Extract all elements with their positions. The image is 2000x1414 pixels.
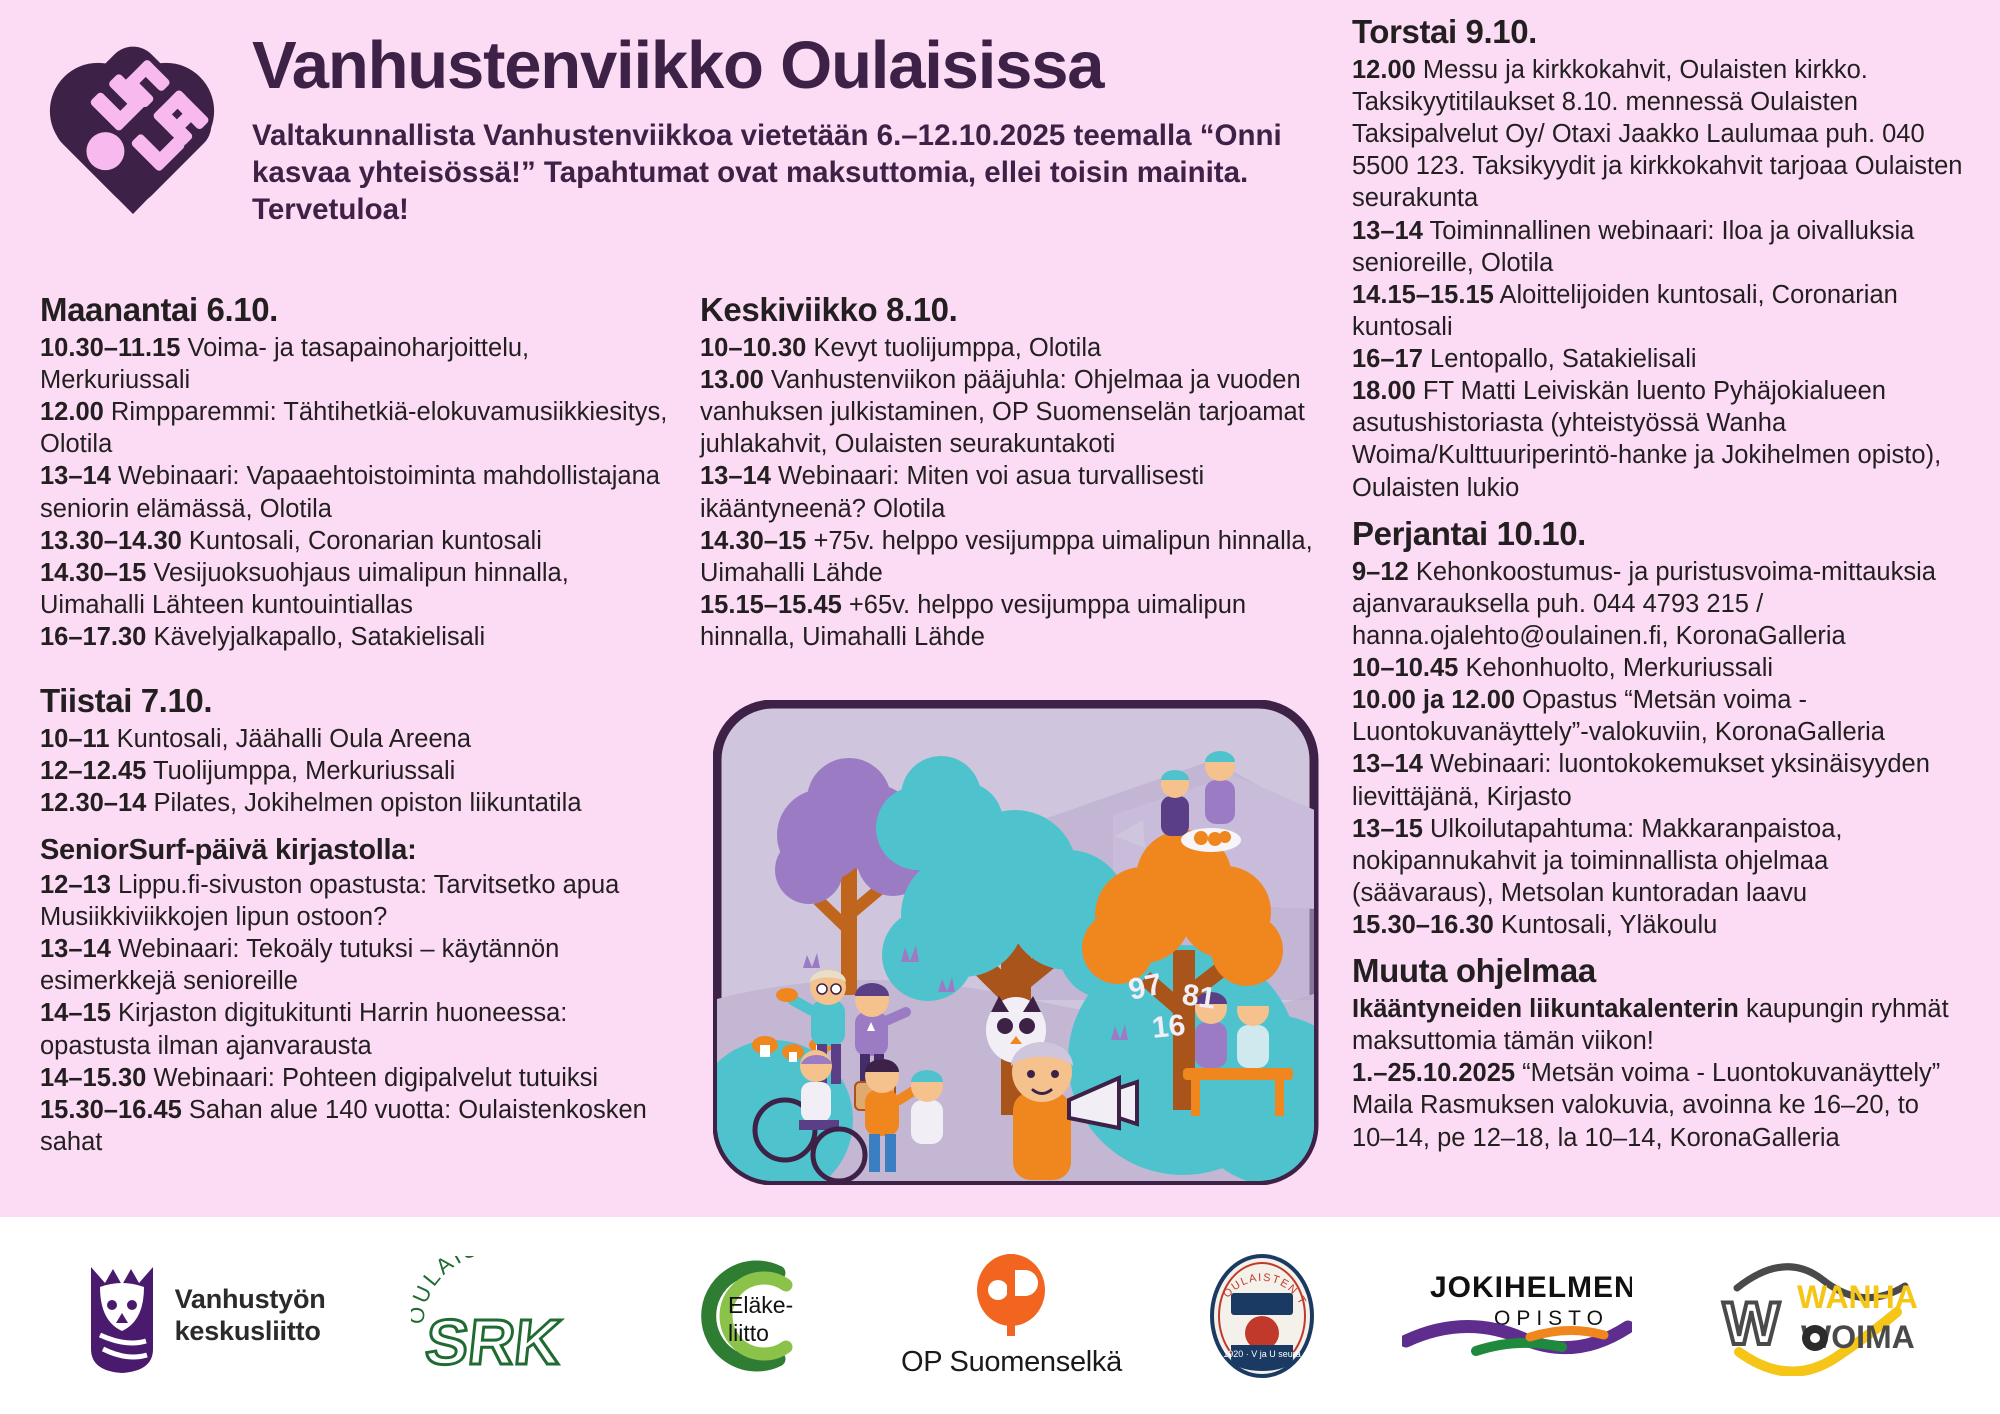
event-time: 18.00 — [1352, 377, 1416, 405]
event-item: 15.30–16.30 Kuntosali, Yläkoulu — [1352, 909, 1967, 941]
event-time: 14.30–15 — [40, 559, 146, 587]
event-text: Toiminnallinen webinaari: Iloa ja oivall… — [1352, 217, 1914, 277]
event-text: Kirjaston digitukitunti Harrin huoneessa… — [40, 999, 567, 1059]
event-time: 10–10.30 — [700, 334, 806, 362]
page-title: Vanhustenviikko Oulaisissa — [252, 32, 1302, 99]
jokihelmen-label: JOKIHELMEN — [1430, 1271, 1632, 1304]
outdoor-seniors-nature-illustration: 97 81 16 — [713, 700, 1338, 1185]
logo-wanha-woima: W WANHA WOIMA — [1717, 1241, 1917, 1391]
page-subtitle: Valtakunnallista Vanhustenviikkoa vietet… — [252, 117, 1302, 228]
event-item: 15.15–15.45 +65v. helppo vesijumppa uima… — [700, 589, 1320, 653]
event-time: 15.30–16.45 — [40, 1096, 182, 1124]
wanha-woima-logo-icon: W WANHA WOIMA — [1717, 1256, 1917, 1376]
event-time: 16–17.30 — [40, 623, 146, 651]
event-text: Pilates, Jokihelmen opiston liikuntatila — [153, 789, 581, 817]
event-text: Kuntosali, Coronarian kuntosali — [189, 527, 542, 555]
event-item: 12.00 Messu ja kirkkokahvit, Oulaisten k… — [1352, 54, 1967, 215]
event-time: 10–10.45 — [1352, 654, 1458, 682]
event-text: Webinaari: Tekoäly tutuksi – käytännön e… — [40, 935, 559, 995]
sponsor-logo-strip: Vanhustyön keskusliitto OULAISTEN SRK El… — [0, 1217, 2000, 1414]
spacer — [1352, 504, 1967, 516]
event-item: 12.30–14 Pilates, Jokihelmen opiston lii… — [40, 787, 670, 819]
day-heading-monday: Maanantai 6.10. — [40, 292, 670, 329]
event-time: 14–15.30 — [40, 1064, 146, 1092]
event-time: 13.30–14.30 — [40, 527, 182, 555]
event-text: Vanhustenviikon pääjuhla: Ohjelmaa ja vu… — [700, 366, 1305, 458]
event-item: 15.30–16.45 Sahan alue 140 vuotta: Oulai… — [40, 1094, 670, 1158]
event-time: 15.30–16.30 — [1352, 911, 1494, 939]
day-heading-friday: Perjantai 10.10. — [1352, 516, 1967, 553]
event-time: 13–14 — [1352, 217, 1423, 245]
event-item: 16–17.30 Kävelyjalkapallo, Satakielisali — [40, 621, 670, 653]
elakeliitto-logo-icon: Eläke- liitto — [686, 1251, 816, 1381]
event-time: 10.30–11.15 — [40, 334, 180, 362]
column-right: Torstai 9.10. 12.00 Messu ja kirkkokahvi… — [1352, 14, 1967, 1154]
event-text: Webinaari: Miten voi asua turvallisesti … — [700, 462, 1204, 522]
event-item: 10.00 ja 12.00 Opastus “Metsän voima - L… — [1352, 684, 1967, 748]
event-time: 12–13 — [40, 871, 111, 899]
opisto-label: OPISTO — [1494, 1307, 1609, 1330]
event-item: 12–12.45 Tuolijumppa, Merkuriussali — [40, 755, 670, 787]
elakeliitto-label-line1: Eläke- — [728, 1292, 793, 1318]
event-item: 12.00 Rimpparemmi: Tähtihetkiä-elokuvamu… — [40, 396, 670, 460]
event-item: 14–15.30 Webinaari: Pohteen digipalvelut… — [40, 1062, 670, 1094]
event-time: 13.00 — [700, 366, 764, 394]
event-time: 13–14 — [1352, 750, 1423, 778]
event-time: 12.00 — [40, 398, 104, 426]
event-item: 10.30–11.15 Voima- ja tasapainoharjoitte… — [40, 332, 670, 396]
illustration-content: 97 81 16 — [713, 751, 1338, 1185]
event-text: Kävelyjalkapallo, Satakielisali — [153, 623, 485, 651]
wanha-label: WANHA — [1797, 1279, 1917, 1315]
event-item: 13–14 Webinaari: Vapaaehtoistoiminta mah… — [40, 460, 670, 524]
event-time: 15.15–15.45 — [700, 591, 842, 619]
event-list-other: Ikääntyneiden liikuntakalenterin kaupung… — [1352, 993, 1967, 1154]
event-time: 14.15–15.15 — [1352, 281, 1494, 309]
event-list-thursday: 12.00 Messu ja kirkkokahvit, Oulaisten k… — [1352, 54, 1967, 504]
event-item: 13.30–14.30 Kuntosali, Coronarian kuntos… — [40, 525, 670, 557]
logo-jokihelmen-opisto: JOKIHELMEN OPISTO — [1402, 1241, 1632, 1391]
logo-elakeliitto: Eläke- liitto — [686, 1241, 816, 1391]
woima-w-mark: W — [1723, 1290, 1780, 1357]
owl-logo-icon — [83, 1257, 161, 1375]
event-text: Tuolijumppa, Merkuriussali — [153, 757, 455, 785]
poster-header: Vanhustenviikko Oulaisissa Valtakunnalli… — [40, 18, 1330, 248]
event-text: Messu ja kirkkokahvit, Oulaisten kirkko.… — [1352, 56, 1962, 213]
day-heading-tuesday: Tiistai 7.10. — [40, 683, 670, 720]
event-text: Webinaari: Vapaaehtoistoiminta mahdollis… — [40, 462, 660, 522]
logo-vanhustyon-keskusliitto: Vanhustyön keskusliitto — [83, 1241, 326, 1391]
event-text: Ulkoilutapahtuma: Makkaranpaistoa, nokip… — [1352, 815, 1843, 907]
event-item: 13.00 Vanhustenviikon pääjuhla: Ohjelmaa… — [700, 364, 1320, 460]
event-time: 10.00 ja 12.00 — [1352, 686, 1515, 714]
logo-label-line2: keskusliitto — [175, 1316, 326, 1348]
event-time: 12–12.45 — [40, 757, 146, 785]
op-label: OP Suomenselkä — [901, 1346, 1122, 1379]
svg-text:97: 97 — [1126, 968, 1166, 1007]
srk-logo-icon: OULAISTEN SRK — [411, 1256, 601, 1376]
event-item: 13–14 Webinaari: luontokokemukset yksinä… — [1352, 748, 1967, 812]
event-time: 10–11 — [40, 725, 110, 753]
taru-logo-icon: OULAISTEN TARU 1920 · V ja U seura — [1207, 1253, 1317, 1379]
event-time: 13–14 — [40, 462, 111, 490]
event-list-friday: 9–12 Kehonkoostumus- ja puristusvoima-mi… — [1352, 556, 1967, 942]
event-item: 10–11 Kuntosali, Jäähalli Oula Areena — [40, 723, 670, 755]
event-item: 13–14 Webinaari: Tekoäly tutuksi – käytä… — [40, 933, 670, 997]
event-item: 13–14 Toiminnallinen webinaari: Iloa ja … — [1352, 215, 1967, 279]
event-item: 14.30–15 Vesijuoksuohjaus uimalipun hinn… — [40, 557, 670, 621]
elakeliitto-label-line2: liitto — [728, 1320, 769, 1346]
event-item: 14–15 Kirjaston digitukitunti Harrin huo… — [40, 997, 670, 1061]
event-time: 13–15 — [1352, 815, 1423, 843]
event-time: 16–17 — [1352, 345, 1423, 373]
event-item: Ikääntyneiden liikuntakalenterin kaupung… — [1352, 993, 1967, 1057]
event-text: Rimpparemmi: Tähtihetkiä-elokuvamusiikki… — [40, 398, 667, 458]
event-time: 14–15 — [40, 999, 111, 1027]
logo-op-suomenselka: OP Suomenselkä — [901, 1241, 1122, 1391]
event-item: 14.15–15.15 Aloittelijoiden kuntosali, C… — [1352, 279, 1967, 343]
logo-oulaisten-taru: OULAISTEN TARU 1920 · V ja U seura — [1207, 1241, 1317, 1391]
event-time: 12.00 — [1352, 56, 1416, 84]
op-mark-icon — [973, 1252, 1049, 1338]
event-time: 13–14 — [40, 935, 111, 963]
event-text: Lippu.fi-sivuston opastusta: Tarvitsetko… — [40, 871, 619, 931]
event-text: Webinaari: luontokokemukset yksinäisyyde… — [1352, 750, 1930, 810]
logo-label-line1: Vanhustyön — [175, 1284, 326, 1316]
event-item: 1.–25.10.2025 “Metsän voima - Luontokuva… — [1352, 1057, 1967, 1153]
oulainen-heart-logo-icon — [40, 32, 226, 218]
poster-root: Vanhustenviikko Oulaisissa Valtakunnalli… — [0, 0, 2000, 1414]
taru-year-label: 1920 · V ja U seura — [1223, 1349, 1301, 1359]
event-text: Kuntosali, Jäähalli Oula Areena — [117, 725, 471, 753]
event-item: 9–12 Kehonkoostumus- ja puristusvoima-mi… — [1352, 556, 1967, 652]
event-time: 1.–25.10.2025 — [1352, 1059, 1515, 1087]
event-time: 12.30–14 — [40, 789, 146, 817]
event-item: 10–10.30 Kevyt tuolijumppa, Olotila — [700, 332, 1320, 364]
event-text: Kehonkoostumus- ja puristusvoima-mittauk… — [1352, 558, 1936, 650]
event-item: 13–14 Webinaari: Miten voi asua turvalli… — [700, 460, 1320, 524]
event-time: 13–14 — [700, 462, 771, 490]
event-item: 12–13 Lippu.fi-sivuston opastusta: Tarvi… — [40, 869, 670, 933]
event-item: 16–17 Lentopallo, Satakielisali — [1352, 343, 1967, 375]
event-text: Webinaari: Pohteen digipalvelut tutuiksi — [153, 1064, 598, 1092]
event-list-seniorsurf: 12–13 Lippu.fi-sivuston opastusta: Tarvi… — [40, 869, 670, 1158]
event-text: FT Matti Leiviskän luento Pyhäjokialueen… — [1352, 377, 1941, 501]
event-item: 14.30–15 +75v. helppo vesijumppa uimalip… — [700, 525, 1320, 589]
event-text: Lentopallo, Satakielisali — [1430, 345, 1697, 373]
event-text: Kevyt tuolijumppa, Olotila — [813, 334, 1101, 362]
event-text: Kuntosali, Yläkoulu — [1501, 911, 1717, 939]
event-time: 14.30–15 — [700, 527, 806, 555]
title-block: Vanhustenviikko Oulaisissa Valtakunnalli… — [252, 18, 1302, 228]
section-heading-other: Muuta ohjelmaa — [1352, 953, 1967, 990]
svg-text:16: 16 — [1150, 1009, 1187, 1045]
event-list-wednesday: 10–10.30 Kevyt tuolijumppa, Olotila 13.0… — [700, 332, 1320, 653]
srk-monogram: SRK — [422, 1306, 565, 1376]
event-time: Ikääntyneiden liikuntakalenterin — [1352, 995, 1739, 1023]
logo-oulaisten-srk: OULAISTEN SRK — [411, 1241, 601, 1391]
event-text: Kehonhuolto, Merkuriussali — [1465, 654, 1773, 682]
event-list-monday: 10.30–11.15 Voima- ja tasapainoharjoitte… — [40, 332, 670, 653]
event-item: 13–15 Ulkoilutapahtuma: Makkaranpaistoa,… — [1352, 813, 1967, 909]
subsection-heading-seniorsurf: SeniorSurf-päivä kirjastolla: — [40, 834, 670, 867]
event-item: 10–10.45 Kehonhuolto, Merkuriussali — [1352, 652, 1967, 684]
spacer — [40, 653, 670, 683]
day-heading-thursday: Torstai 9.10. — [1352, 14, 1967, 51]
jokihelmen-logo-icon: JOKIHELMEN OPISTO — [1402, 1263, 1632, 1369]
day-heading-wednesday: Keskiviikko 8.10. — [700, 292, 1320, 329]
svg-text:81: 81 — [1180, 978, 1218, 1015]
column-middle: Keskiviikko 8.10. 10–10.30 Kevyt tuoliju… — [700, 292, 1320, 653]
event-time: 9–12 — [1352, 558, 1409, 586]
column-left: Maanantai 6.10. 10.30–11.15 Voima- ja ta… — [40, 292, 670, 1158]
event-list-tuesday: 10–11 Kuntosali, Jäähalli Oula Areena 12… — [40, 723, 670, 819]
event-item: 18.00 FT Matti Leiviskän luento Pyhäjoki… — [1352, 375, 1967, 504]
